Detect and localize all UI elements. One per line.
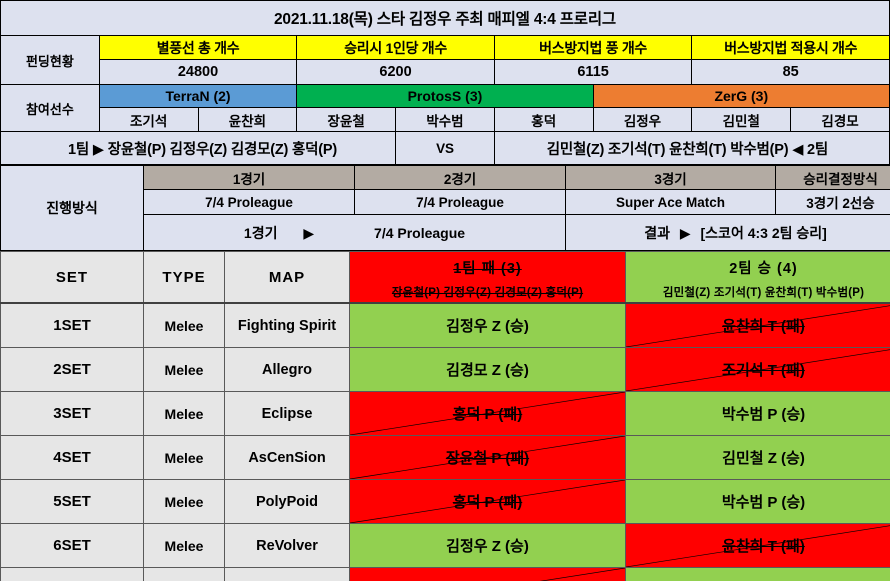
- format-table: 진행방식 1경기 2경기 3경기 승리결정방식 7/4 Proleague 7/…: [0, 165, 890, 251]
- format-label: 진행방식: [1, 166, 144, 251]
- format-header-0: 1경기: [144, 166, 355, 190]
- table-row: 4SET Melee AsCenSion 장윤철 P (패) 김민철 Z (승): [1, 436, 890, 480]
- funding-value-1: 6200: [297, 60, 495, 85]
- team1-matchup: 1팀 ▶ 장윤철(P) 김정우(Z) 김경모(Z) 홍덕(P): [1, 132, 396, 165]
- row-team2-result: 조기석 T (패): [626, 348, 890, 392]
- row-team1-result: 김경모 Z (패): [350, 568, 626, 581]
- funding-value-3: 85: [692, 60, 890, 85]
- funding-header-1: 승리시 1인당 개수: [297, 36, 495, 60]
- team1-result-text: 김정우 Z (승): [446, 538, 529, 555]
- results-table: SET TYPE MAP 1팀 패 (3) 장윤철(P) 김정우(Z) 김경모(…: [0, 251, 890, 581]
- funding-header-row: 펀딩현황 별풍선 총 개수 승리시 1인당 개수 버스방지법 풍 개수 버스방지…: [1, 36, 890, 60]
- team2-result-title: 2팀 승 (4): [626, 257, 890, 278]
- team2-results-header: 2팀 승 (4) 김민철(Z) 조기석(T) 윤찬희(T) 박수범(P): [626, 252, 890, 304]
- strikeout-slash-icon: [350, 568, 625, 581]
- row-map: Allegro: [225, 348, 350, 392]
- table-row: 2SET Melee Allegro 김경모 Z (승) 조기석 T (패): [1, 348, 890, 392]
- team2-result-text: 박수범 P (승): [722, 406, 805, 423]
- team1-result-text: 홍덕 P (패): [453, 494, 522, 511]
- title-row: 2021.11.18(목) 스타 김정우 주최 매피엘 4:4 프로리그: [1, 1, 890, 36]
- row-team2-result: 박수범 P (승): [626, 392, 890, 436]
- row-type: Melee: [144, 392, 225, 436]
- format-value-0: 7/4 Proleague: [144, 190, 355, 215]
- spreadsheet-sheet: 2021.11.18(목) 스타 김정우 주최 매피엘 4:4 프로리그 펀딩현…: [0, 0, 890, 581]
- team2-matchup: 김민철(Z) 조기석(T) 윤찬희(T) 박수범(P) ◀ 2팀: [494, 132, 889, 165]
- funding-header-2: 버스방지법 풍 개수: [494, 36, 692, 60]
- format-current-game: 1경기 ▶ 7/4 Proleague: [144, 215, 566, 251]
- table-row: 6SET Melee ReVolver 김정우 Z (승) 윤찬희 T (패): [1, 524, 890, 568]
- team2-result-text: 윤찬희 T (패): [722, 538, 805, 555]
- format-value-1: 7/4 Proleague: [355, 190, 566, 215]
- player-zerg-0: 김정우: [593, 108, 692, 132]
- row-map: Eclipse: [225, 392, 350, 436]
- row-team2-result: 김민철 Z (승): [626, 436, 890, 480]
- team1-results-header: 1팀 패 (3) 장윤철(P) 김정우(Z) 김경모(Z) 홍덕(P): [350, 252, 626, 304]
- team1-arrow-icon: ▶: [93, 142, 104, 158]
- row-set-label: 5SET: [1, 480, 144, 524]
- race-header-protoss: ProtosS (3): [297, 85, 593, 108]
- format-value-2: Super Ace Match: [566, 190, 776, 215]
- page-title: 2021.11.18(목) 스타 김정우 주최 매피엘 4:4 프로리그: [1, 1, 890, 36]
- player-protoss-1: 박수범: [396, 108, 495, 132]
- row-set-label: 6SET: [1, 524, 144, 568]
- table-row: 5SET Melee PolyPoid 홍덕 P (패) 박수범 P (승): [1, 480, 890, 524]
- row-team1-result: 김경모 Z (승): [350, 348, 626, 392]
- format-result: 결과 ▶ [스코어 4:3 2팀 승리]: [566, 215, 890, 251]
- results-header-row: SET TYPE MAP 1팀 패 (3) 장윤철(P) 김정우(Z) 김경모(…: [1, 252, 890, 304]
- row-set-label: 7SET (P+L ACE): [1, 568, 144, 581]
- current-game-type: 7/4 Proleague: [340, 225, 465, 241]
- funding-header-3: 버스방지법 적용시 개수: [692, 36, 890, 60]
- matchup-row: 1팀 ▶ 장윤철(P) 김정우(Z) 김경모(Z) 홍덕(P) VS 김민철(Z…: [1, 132, 890, 165]
- player-row: 조기석 윤찬희 장윤철 박수범 홍덕 김정우 김민철 김경모: [1, 108, 890, 132]
- player-zerg-1: 김민철: [692, 108, 791, 132]
- row-team1-result: 홍덕 P (패): [350, 480, 626, 524]
- result-score: [스코어 4:3 2팀 승리]: [701, 225, 827, 241]
- team2-roster: 김민철(Z) 조기석(T) 윤찬희(T) 박수범(P): [547, 142, 789, 158]
- race-header-zerg: ZerG (3): [593, 85, 889, 108]
- player-zerg-2: 김경모: [791, 108, 890, 132]
- row-team1-result: 김정우 Z (승): [350, 303, 626, 348]
- player-protoss-2: 홍덕: [494, 108, 593, 132]
- row-map: Neo Sylphid: [225, 568, 350, 581]
- column-header-type: TYPE: [144, 252, 225, 304]
- team2-result-text: 윤찬희 T (패): [722, 318, 805, 335]
- row-type: Melee: [144, 524, 225, 568]
- table-row: 3SET Melee Eclipse 홍덕 P (패) 박수범 P (승): [1, 392, 890, 436]
- vs-label: VS: [396, 132, 495, 165]
- row-map: ReVolver: [225, 524, 350, 568]
- current-game-label: 1경기: [244, 225, 278, 241]
- team1-result-title: 1팀 패 (3): [350, 257, 625, 278]
- row-type: Melee: [144, 436, 225, 480]
- row-type: Melee: [144, 480, 225, 524]
- row-map: AsCenSion: [225, 436, 350, 480]
- row-team2-result: 김민철 Z (승): [626, 568, 890, 581]
- row-set-label: 1SET: [1, 303, 144, 348]
- row-team1-result: 장윤철 P (패): [350, 436, 626, 480]
- team1-result-text: 김경모 Z (승): [446, 362, 529, 379]
- row-map: Fighting Spirit: [225, 303, 350, 348]
- result-arrow-icon: ▶: [674, 225, 697, 241]
- team2-result-text: 김민철 Z (승): [722, 450, 805, 467]
- funding-label: 펀딩현황: [1, 36, 100, 85]
- team1-result-text: 홍덕 P (패): [453, 406, 522, 423]
- funding-header-0: 별풍선 총 개수: [99, 36, 297, 60]
- row-set-label: 2SET: [1, 348, 144, 392]
- team2-result-text: 박수범 P (승): [722, 494, 805, 511]
- format-header-1: 2경기: [355, 166, 566, 190]
- row-type: Melee: [144, 303, 225, 348]
- column-header-set: SET: [1, 252, 144, 304]
- row-map: PolyPoid: [225, 480, 350, 524]
- player-protoss-0: 장윤철: [297, 108, 396, 132]
- row-team2-result: 윤찬희 T (패): [626, 524, 890, 568]
- row-set-label: 3SET: [1, 392, 144, 436]
- race-header-terran: TerraN (2): [99, 85, 297, 108]
- row-team1-result: 김정우 Z (승): [350, 524, 626, 568]
- team1-result-roster: 장윤철(P) 김정우(Z) 김경모(Z) 홍덕(P): [350, 284, 625, 300]
- race-row: 참여선수 TerraN (2) ProtosS (3) ZerG (3): [1, 85, 890, 108]
- participants-label: 참여선수: [1, 85, 100, 132]
- row-team1-result: 홍덕 P (패): [350, 392, 626, 436]
- team2-label: 2팀: [807, 142, 828, 158]
- funding-value-row: 24800 6200 6115 85: [1, 60, 890, 85]
- team1-result-text: 장윤철 P (패): [446, 450, 529, 467]
- player-terran-0: 조기석: [99, 108, 198, 132]
- row-team2-result: 박수범 P (승): [626, 480, 890, 524]
- row-type: Melee: [144, 348, 225, 392]
- team2-arrow-icon: ◀: [792, 142, 803, 158]
- row-type: Melee: [144, 568, 225, 581]
- team1-roster: 장윤철(P) 김정우(Z) 김경모(Z) 홍덕(P): [108, 142, 337, 158]
- column-header-map: MAP: [225, 252, 350, 304]
- row-team2-result: 윤찬희 T (패): [626, 303, 890, 348]
- player-terran-1: 윤찬희: [198, 108, 297, 132]
- funding-value-2: 6115: [494, 60, 692, 85]
- format-header-row: 진행방식 1경기 2경기 3경기 승리결정방식: [1, 166, 890, 190]
- current-game-arrow-icon: ▶: [281, 225, 336, 241]
- team2-result-text: 조기석 T (패): [722, 362, 805, 379]
- format-header-3: 승리결정방식: [776, 166, 890, 190]
- result-label: 결과: [644, 225, 670, 241]
- table-row: 1SET Melee Fighting Spirit 김정우 Z (승) 윤찬희…: [1, 303, 890, 348]
- team2-result-roster: 김민철(Z) 조기석(T) 윤찬희(T) 박수범(P): [626, 284, 890, 300]
- funding-value-0: 24800: [99, 60, 297, 85]
- table-row: 7SET (P+L ACE) Melee Neo Sylphid 김경모 Z (…: [1, 568, 890, 581]
- header-table: 2021.11.18(목) 스타 김정우 주최 매피엘 4:4 프로리그 펀딩현…: [0, 0, 890, 165]
- format-header-2: 3경기: [566, 166, 776, 190]
- format-value-3: 3경기 2선승: [776, 190, 890, 215]
- row-set-label: 4SET: [1, 436, 144, 480]
- team1-result-text: 김정우 Z (승): [446, 318, 529, 335]
- team1-label: 1팀: [68, 142, 89, 158]
